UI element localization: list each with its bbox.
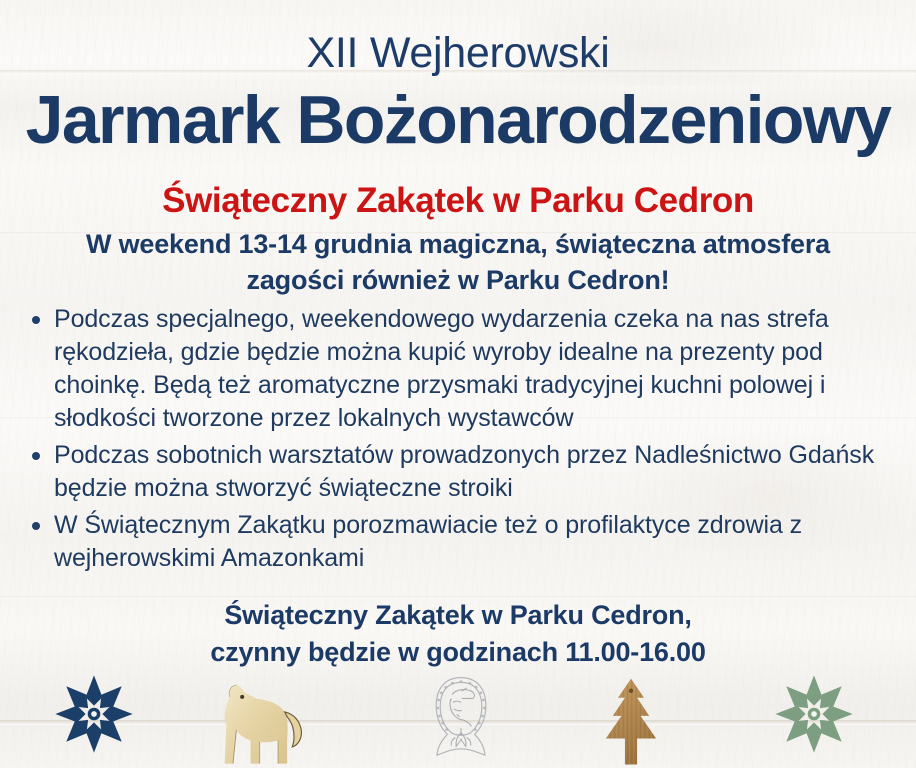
wejherowo-crest-ornament <box>425 672 497 764</box>
ornament-row <box>0 0 916 768</box>
snowflake-navy-ornament <box>52 668 136 760</box>
christmas-market-poster: XII Wejherowski Jarmark Bożonarodzeniowy… <box>0 0 916 768</box>
snowflake-green-ornament <box>772 668 856 760</box>
wooden-christmas-tree-ornament <box>592 676 670 768</box>
wooden-horse-ornament <box>208 680 308 768</box>
